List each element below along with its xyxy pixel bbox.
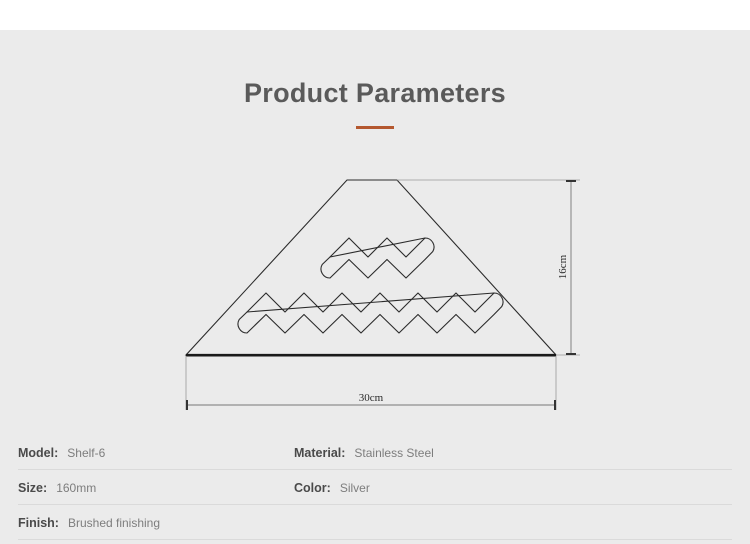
spec-label: Model: [18, 446, 58, 460]
title-block: Product Parameters [0, 76, 750, 129]
product-diagram: 16cm 30cm [0, 160, 750, 425]
content-panel: Product Parameters [0, 30, 750, 544]
upper-zigzag-slot-outline [321, 238, 434, 278]
page-title: Product Parameters [0, 76, 750, 110]
corner-shelf-technical-drawing: 16cm 30cm [0, 160, 750, 425]
spec-cell-size: Size: 160mm [18, 470, 96, 505]
specifications-table: Model: Shelf-6 Material: Stainless Steel… [18, 435, 732, 540]
spec-value: Brushed finishing [68, 516, 160, 530]
spec-cell-finish: Finish: Brushed finishing [18, 505, 160, 540]
spec-label: Material: [294, 446, 345, 460]
spec-row: Size: 160mm Color: Silver [18, 470, 732, 505]
spec-cell-empty [294, 505, 303, 540]
spec-value: Silver [340, 481, 370, 495]
lower-zigzag-slot-outline [238, 293, 503, 333]
spec-cell-model: Model: Shelf-6 [18, 435, 105, 470]
spec-value: Shelf-6 [67, 446, 105, 460]
product-parameters-page: Product Parameters [0, 0, 750, 544]
spec-label: Size: [18, 481, 47, 495]
title-accent-underline [356, 126, 394, 129]
shelf-outline-trapezoid [186, 180, 556, 355]
spec-row: Model: Shelf-6 Material: Stainless Steel [18, 435, 732, 470]
spec-cell-color: Color: Silver [294, 470, 370, 505]
spec-label: Finish: [18, 516, 59, 530]
width-dimension-label: 30cm [359, 392, 384, 404]
top-white-band [0, 0, 750, 30]
spec-value: 160mm [56, 481, 96, 495]
spec-label: Color: [294, 481, 331, 495]
height-dimension-label: 16cm [557, 254, 569, 279]
spec-cell-material: Material: Stainless Steel [294, 435, 434, 470]
spec-row: Finish: Brushed finishing [18, 505, 732, 540]
spec-value: Stainless Steel [354, 446, 433, 460]
